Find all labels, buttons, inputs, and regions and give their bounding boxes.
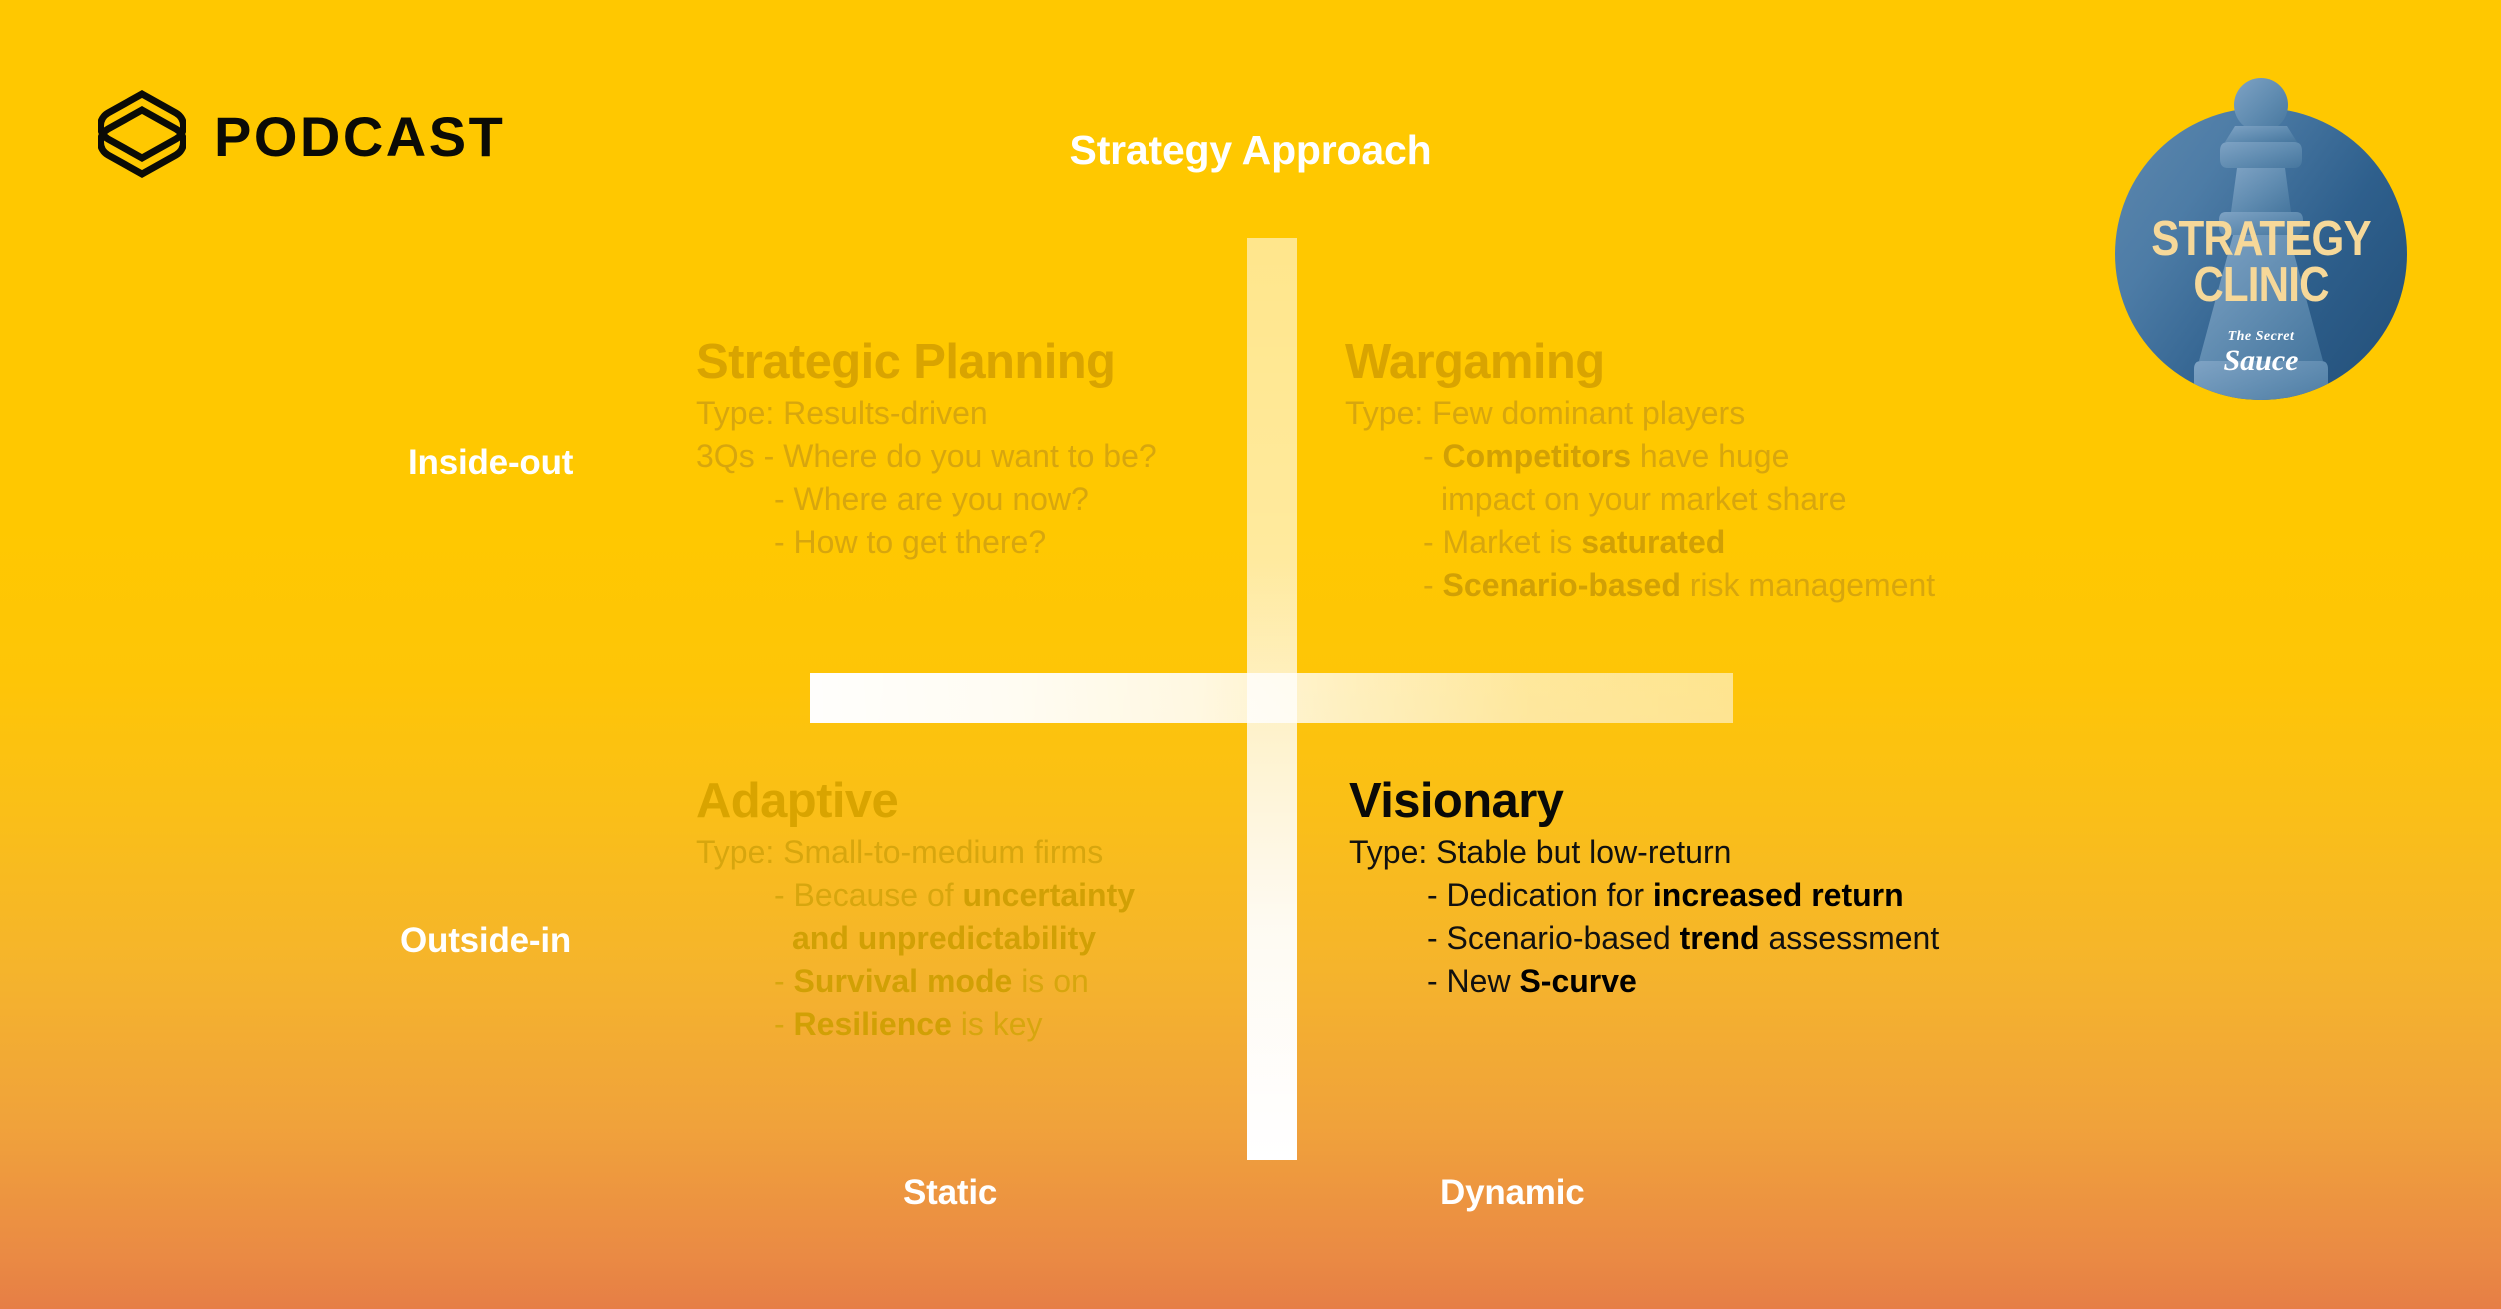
axis-label-static: Static — [903, 1173, 997, 1213]
plain-text: - — [774, 963, 794, 999]
plain-text: risk management — [1681, 567, 1935, 603]
horizontal-axis-bar — [810, 673, 1733, 723]
quadrant-line: - Scenario-based trend assessment — [1349, 917, 1939, 960]
plain-text: - New — [1427, 963, 1519, 999]
axis-label-outside-in: Outside-in — [400, 921, 571, 961]
plain-text: impact on your market share — [1441, 481, 1847, 517]
axis-label-dynamic: Dynamic — [1440, 1173, 1585, 1213]
quadrant-line: - Because of uncertainty — [696, 874, 1135, 917]
quadrant-line: - Scenario-based risk management — [1345, 564, 1935, 607]
quadrant-line: - Survival mode is on — [696, 960, 1135, 1003]
quadrant-body: Type: Stable but low-return- Dedication … — [1349, 831, 1939, 1003]
quadrant-body: Type: Small-to-medium firms- Because of … — [696, 831, 1135, 1046]
quadrant-body: Type: Few dominant players- Competitors … — [1345, 392, 1935, 607]
quadrant-body: Type: Results-driven3Qs - Where do you w… — [696, 392, 1157, 564]
sauce-big-text: Sauce — [2224, 344, 2299, 377]
quadrant-heading: Adaptive — [696, 777, 1135, 827]
plain-text: - Scenario-based — [1427, 920, 1680, 956]
plain-text: - How to get there? — [774, 524, 1046, 560]
emphasis-text: Survival mode — [794, 963, 1013, 999]
quadrant-heading: Strategic Planning — [696, 338, 1157, 388]
secret-sauce-script: The Secret Sauce — [2115, 325, 2407, 373]
quadrant-line: - Where are you now? — [696, 478, 1157, 521]
quadrant-line: impact on your market share — [1345, 478, 1935, 521]
quadrant-line: - New S-curve — [1349, 960, 1939, 1003]
quadrant-line: - Market is saturated — [1345, 521, 1935, 564]
quadrant-heading: Wargaming — [1345, 338, 1935, 388]
quadrant-line: - How to get there? — [696, 521, 1157, 564]
plain-text: - — [774, 1006, 794, 1042]
quadrant-line: and unpredictability — [696, 917, 1135, 960]
emphasis-text: uncertainty — [963, 877, 1135, 913]
quadrant-line: 3Qs - Where do you want to be? — [696, 435, 1157, 478]
badge-title: STRATEGY CLINIC — [2135, 216, 2386, 308]
emphasis-text: Competitors — [1443, 438, 1631, 474]
emphasis-text: and unpredictability — [792, 920, 1096, 956]
quadrant-line: Type: Stable but low-return — [1349, 831, 1939, 874]
strategy-clinic-badge: STRATEGY CLINIC The Secret Sauce — [2115, 70, 2407, 420]
emphasis-text: Resilience — [794, 1006, 952, 1042]
plain-text: is on — [1012, 963, 1088, 999]
quadrant-adaptive[interactable]: Adaptive Type: Small-to-medium firms- Be… — [696, 777, 1135, 1046]
plain-text: have huge — [1631, 438, 1789, 474]
quadrant-strategic-planning[interactable]: Strategic Planning Type: Results-driven3… — [696, 338, 1157, 564]
quadrant-line: - Competitors have huge — [1345, 435, 1935, 478]
plain-text: - Market is — [1423, 524, 1581, 560]
page-title: Strategy Approach — [0, 127, 2501, 174]
badge-title-line2: CLINIC — [2135, 262, 2386, 308]
emphasis-text: saturated — [1581, 524, 1725, 560]
quadrant-line: Type: Few dominant players — [1345, 392, 1935, 435]
quadrant-line: Type: Small-to-medium firms — [696, 831, 1135, 874]
plain-text: assessment — [1760, 920, 1940, 956]
plain-text: Type: Few dominant players — [1345, 395, 1745, 431]
quadrant-visionary[interactable]: Visionary Type: Stable but low-return- D… — [1349, 777, 1939, 1003]
badge-title-line1: STRATEGY — [2135, 216, 2386, 262]
plain-text: is key — [952, 1006, 1043, 1042]
plain-text: - Dedication for — [1427, 877, 1653, 913]
axis-label-inside-out: Inside-out — [408, 443, 573, 483]
plain-text: Type: Stable but low-return — [1349, 834, 1731, 870]
slide-canvas: PODCAST — [0, 0, 2501, 1309]
quadrant-wargaming[interactable]: Wargaming Type: Few dominant players- Co… — [1345, 338, 1935, 607]
emphasis-text: trend — [1680, 920, 1760, 956]
plain-text: - Because of — [774, 877, 963, 913]
quadrant-line: Type: Results-driven — [696, 392, 1157, 435]
emphasis-text: Scenario-based — [1443, 567, 1681, 603]
emphasis-text: increased return — [1653, 877, 1904, 913]
quadrant-line: - Resilience is key — [696, 1003, 1135, 1046]
quadrant-heading: Visionary — [1349, 777, 1939, 827]
plain-text: - Where are you now? — [774, 481, 1089, 517]
plain-text: Type: Results-driven — [696, 395, 988, 431]
emphasis-text: S-curve — [1519, 963, 1636, 999]
plain-text: - — [1423, 567, 1443, 603]
plain-text: 3Qs - Where do you want to be? — [696, 438, 1157, 474]
quadrant-line: - Dedication for increased return — [1349, 874, 1939, 917]
plain-text: - — [1423, 438, 1443, 474]
plain-text: Type: Small-to-medium firms — [696, 834, 1103, 870]
